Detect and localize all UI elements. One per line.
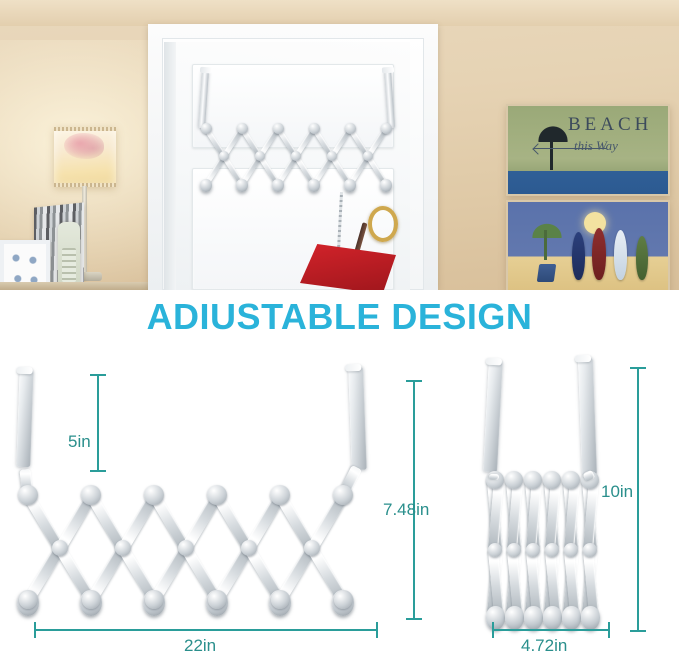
rack-hook <box>380 179 392 192</box>
surfboard-icon-3 <box>614 230 627 280</box>
lattice-top-joint <box>201 123 212 134</box>
palm-fronds-icon-2 <box>526 218 568 238</box>
lattice-top-joint <box>309 123 320 134</box>
lifestyle-photo: BEACH this Way <box>0 0 679 290</box>
cordless-phone <box>58 222 80 290</box>
lattice-top-joint <box>524 471 542 489</box>
surfboard-icon-4 <box>636 236 648 280</box>
lattice-joint <box>545 543 559 557</box>
lattice-joint <box>507 543 521 557</box>
lattice-joint <box>241 540 257 556</box>
ceiling-strip <box>0 0 679 26</box>
hook-joint <box>145 591 163 609</box>
lamp-trim-top <box>54 127 116 131</box>
lattice-top-joint <box>270 485 290 505</box>
lattice-top-joint <box>273 123 284 134</box>
accordion-hook-rack <box>196 72 398 200</box>
lattice-top-joint <box>381 123 392 134</box>
hanger-lip-right <box>575 355 591 363</box>
hook-joint <box>271 591 289 609</box>
dim-cap-left <box>34 622 36 638</box>
dimension-label-22in: 22in <box>184 636 216 656</box>
lamp-shade-icon <box>54 127 116 187</box>
dimension-line-4-72in <box>492 629 610 631</box>
left-arrow-icon <box>534 148 606 149</box>
hanger-connector-left <box>489 474 499 480</box>
lattice-joint <box>363 151 373 161</box>
rack-hook <box>562 606 581 630</box>
dim-cap-top <box>406 380 422 382</box>
dimension-label-10in: 10in <box>601 482 633 502</box>
phone-keypad <box>62 248 76 282</box>
dimension-label-7-48in: 7.48in <box>383 500 429 520</box>
hanger-arm-left <box>16 369 33 467</box>
rack-hook <box>505 606 524 630</box>
expanded-rack-diagram <box>0 352 420 652</box>
lattice-joint <box>488 543 502 557</box>
dimension-line-22in <box>34 629 378 631</box>
dim-cap-top <box>90 374 106 376</box>
palm-trunk-icon <box>550 132 553 170</box>
lattice-joint <box>583 543 597 557</box>
lattice-joint <box>219 151 229 161</box>
dim-cap-right <box>608 622 610 638</box>
dim-cap-bottom <box>406 618 422 620</box>
rack-hook <box>200 179 212 192</box>
hanger-lip-right <box>345 364 361 372</box>
rack-hook <box>524 606 543 630</box>
rack-hook <box>543 606 562 630</box>
rack-hook <box>308 179 320 192</box>
hanger-lip-left <box>17 367 33 375</box>
lattice-joint <box>327 151 337 161</box>
lattice-top-joint <box>543 471 561 489</box>
lattice-joint <box>304 540 320 556</box>
dim-cap-bottom <box>90 470 106 472</box>
lattice-top-joint <box>237 123 248 134</box>
dimension-label-4-72in: 4.72in <box>521 636 567 656</box>
hanger-lip-right <box>382 67 394 74</box>
desk-surface <box>0 282 150 290</box>
dim-cap-bottom <box>630 630 646 632</box>
rack-hook <box>272 179 284 192</box>
hook-joint <box>334 591 352 609</box>
hanger-lip-left <box>486 358 502 366</box>
product-infographic: BEACH this Way ADIUSTABLE DESIGN 5in <box>0 0 679 667</box>
surfboard-icon-1 <box>572 232 585 280</box>
lattice-joint <box>178 540 194 556</box>
hanger-arm-left <box>483 360 503 473</box>
rack-hook <box>486 606 505 630</box>
beach-chair-icon <box>537 264 557 282</box>
dimension-line-10in <box>637 367 639 632</box>
lattice-joint <box>115 540 131 556</box>
lattice-top-joint <box>207 485 227 505</box>
page-title: ADIUSTABLE DESIGN <box>0 296 679 338</box>
hanger-arm-right <box>348 366 367 470</box>
wall-art-beach-sign: BEACH this Way <box>506 104 670 196</box>
hook-joint <box>208 591 226 609</box>
collapsed-rack-diagram <box>470 352 640 652</box>
lattice-joint <box>526 543 540 557</box>
dim-cap-top <box>630 367 646 369</box>
hook-joint <box>82 591 100 609</box>
lamp-floral-pattern <box>64 133 104 159</box>
dimension-line-5in <box>97 374 99 472</box>
rack-hook <box>236 179 248 192</box>
rack-hook <box>344 179 356 192</box>
dimension-diagrams: 5in 7.48in 22in 10in 4.72in <box>0 352 679 667</box>
lattice-joint <box>52 540 68 556</box>
dimension-label-5in: 5in <box>68 432 91 452</box>
lattice-top-joint <box>144 485 164 505</box>
surfboard-icon-2 <box>592 228 606 280</box>
hanger-lip-left <box>200 67 212 74</box>
hanger-arm-left <box>198 70 209 128</box>
lattice-top-joint <box>345 123 356 134</box>
keyring-icon <box>368 206 398 242</box>
hanger-arm-right <box>578 357 597 475</box>
hanger-arm-right <box>384 70 395 128</box>
lattice-top-joint <box>562 471 580 489</box>
lattice-joint <box>564 543 578 557</box>
lattice-top-joint <box>81 485 101 505</box>
lattice-top-joint <box>18 485 38 505</box>
lattice-top-joint <box>505 471 523 489</box>
wall-art-surfboards <box>506 200 670 290</box>
hook-joint <box>19 591 37 609</box>
lattice-top-joint <box>333 485 353 505</box>
rack-hook <box>581 606 600 630</box>
beach-sign-subtext: this Way <box>574 138 618 154</box>
lattice-joint <box>291 151 301 161</box>
dim-cap-right <box>376 622 378 638</box>
palm-trunk-icon-2 <box>544 230 547 260</box>
lattice-joint <box>255 151 265 161</box>
dim-cap-left <box>492 622 494 638</box>
beach-sign-text: BEACH <box>568 114 652 136</box>
